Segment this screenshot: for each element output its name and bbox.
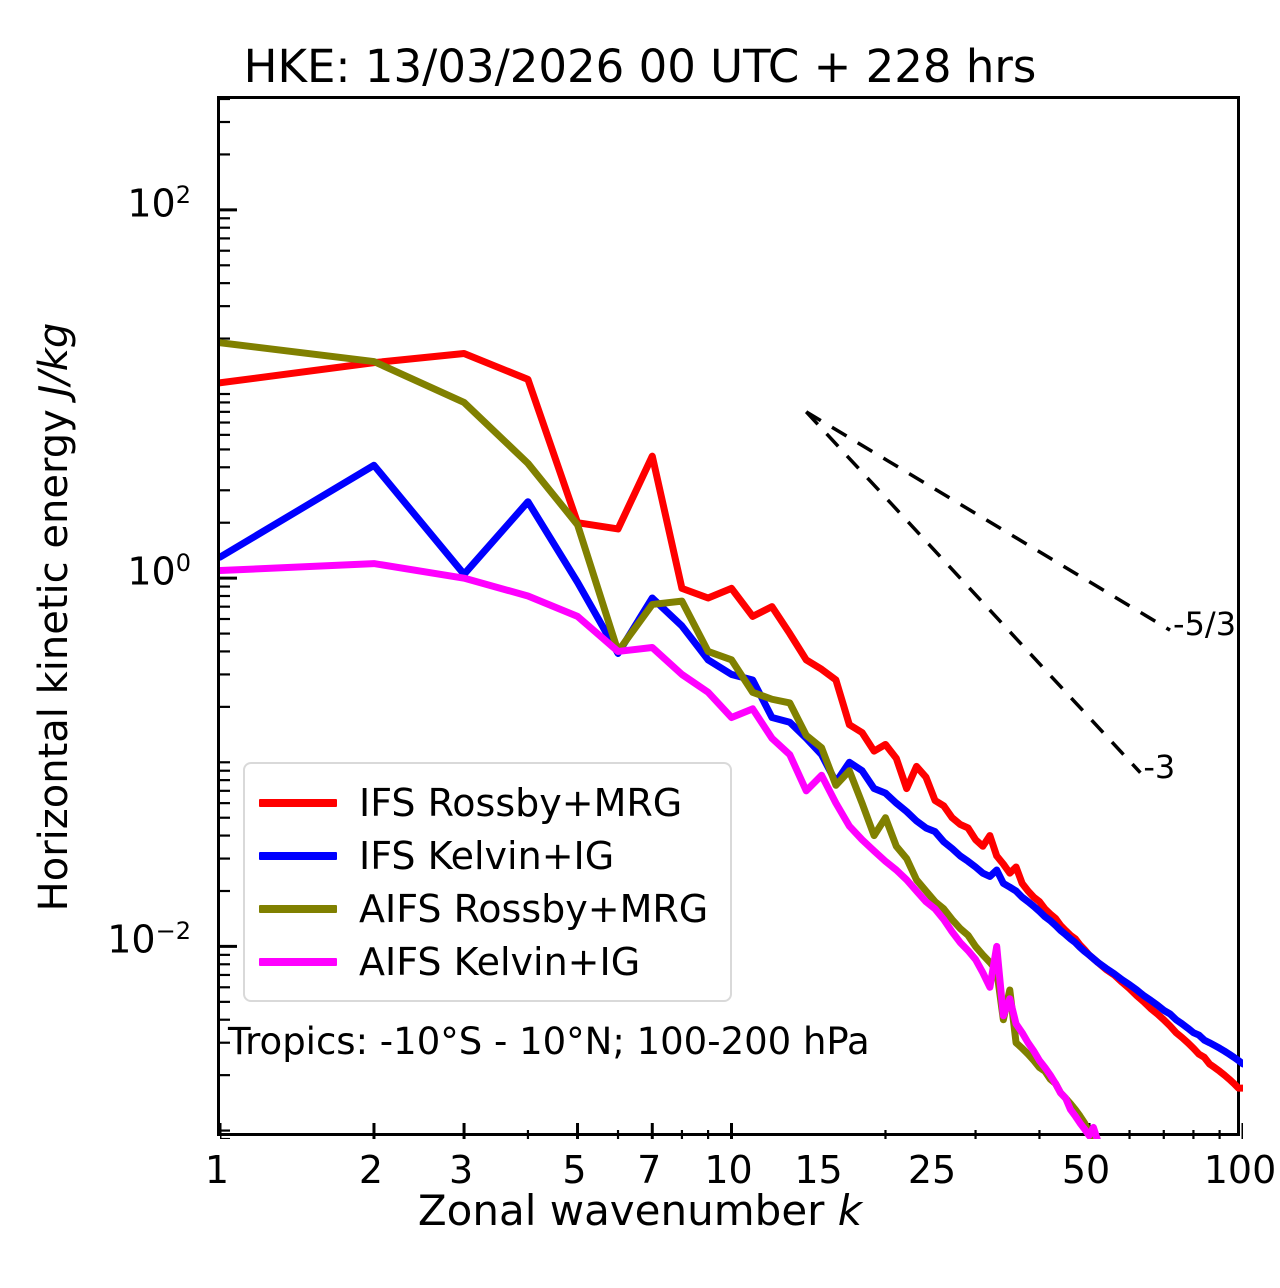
x-axis-label-text: Zonal wavenumber [418,1186,838,1235]
slope-label-1: -5/3 [1173,605,1236,643]
y-axis-label-text: Horizontal kinetic energy [31,397,77,912]
legend-color-swatch [259,905,337,913]
legend-color-swatch [259,958,337,966]
x-tick-label: 1 [205,1148,229,1192]
x-tick-label: 100 [1204,1148,1277,1192]
legend-color-swatch [259,799,337,807]
chart-annotation: Tropics: -10°S - 10°N; 100-200 hPa [228,1020,870,1063]
legend-item-label: IFS Rossby+MRG [359,784,682,822]
y-axis-label: Horizontal kinetic energy J/kg [31,117,77,1117]
chart-legend: IFS Rossby+MRGIFS Kelvin+IGAIFS Rossby+M… [243,762,732,1002]
x-tick-label: 3 [449,1148,473,1192]
legend-item-2[interactable]: IFS Kelvin+IG [259,829,708,882]
x-axis-label: Zonal wavenumber k [0,1186,1280,1235]
x-tick-label: 2 [359,1148,383,1192]
slope-label-2: -3 [1143,748,1175,786]
x-tick-label: 25 [908,1148,956,1192]
legend-item-label: AIFS Kelvin+IG [359,943,640,981]
y-tick-label: 102 [127,181,191,226]
y-tick-label: 10−2 [107,917,191,962]
legend-item-label: IFS Kelvin+IG [359,837,614,875]
chart-figure: HKE: 13/03/2026 00 UTC + 228 hrs Horizon… [0,0,1280,1288]
x-tick-label: 7 [637,1148,661,1192]
page-title: HKE: 13/03/2026 00 UTC + 228 hrs [0,40,1280,93]
y-tick-label: 100 [127,549,191,594]
x-tick-label: 50 [1062,1148,1110,1192]
x-tick-label: 5 [562,1148,586,1192]
legend-item-label: AIFS Rossby+MRG [359,890,708,928]
y-axis-unit: J/kg [31,323,77,397]
x-axis-variable: k [838,1186,862,1235]
reference-slope-lines [806,412,1170,773]
legend-item-3[interactable]: AIFS Rossby+MRG [259,882,708,935]
slope-line-2 [806,412,1140,773]
slope-line-1 [806,412,1170,630]
x-tick-label: 15 [794,1148,842,1192]
x-tick-label: 10 [704,1148,752,1192]
legend-color-swatch [259,852,337,860]
legend-item-1[interactable]: IFS Rossby+MRG [259,776,708,829]
legend-item-4[interactable]: AIFS Kelvin+IG [259,935,708,988]
